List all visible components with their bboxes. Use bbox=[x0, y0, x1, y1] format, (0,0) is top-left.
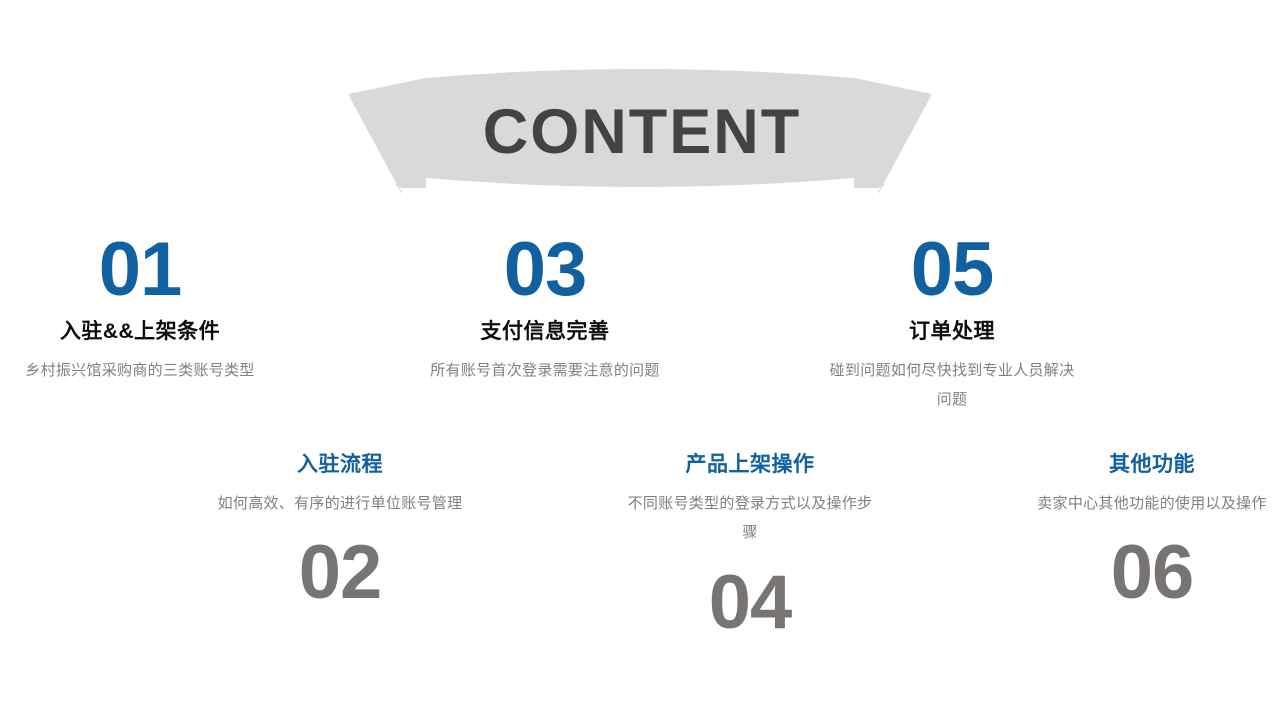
content-item-05[interactable]: 05 订单处理 碰到问题如何尽快找到专业人员解决问题 bbox=[812, 235, 1092, 415]
item-description-03: 所有账号首次登录需要注意的问题 bbox=[405, 356, 685, 385]
item-description-05: 碰到问题如何尽快找到专业人员解决问题 bbox=[812, 356, 1092, 415]
item-description-06: 卖家中心其他功能的使用以及操作 bbox=[1012, 489, 1280, 518]
item-number-05: 05 bbox=[812, 235, 1092, 305]
content-item-06[interactable]: 其他功能 卖家中心其他功能的使用以及操作 06 bbox=[1012, 452, 1280, 608]
item-title-01: 入驻&&上架条件 bbox=[0, 319, 280, 344]
item-title-03: 支付信息完善 bbox=[405, 319, 685, 344]
item-number-04: 04 bbox=[610, 568, 890, 638]
content-item-03[interactable]: 03 支付信息完善 所有账号首次登录需要注意的问题 bbox=[405, 235, 685, 385]
item-number-06: 06 bbox=[1012, 538, 1280, 608]
item-title-04: 产品上架操作 bbox=[610, 452, 890, 477]
item-description-02: 如何高效、有序的进行单位账号管理 bbox=[200, 489, 480, 518]
item-title-05: 订单处理 bbox=[812, 319, 1092, 344]
item-number-01: 01 bbox=[0, 235, 280, 305]
item-number-02: 02 bbox=[200, 538, 480, 608]
content-item-02[interactable]: 入驻流程 如何高效、有序的进行单位账号管理 02 bbox=[200, 452, 480, 608]
content-item-01[interactable]: 01 入驻&&上架条件 乡村振兴馆采购商的三类账号类型 bbox=[0, 235, 280, 385]
item-description-01: 乡村振兴馆采购商的三类账号类型 bbox=[0, 356, 280, 385]
item-title-06: 其他功能 bbox=[1012, 452, 1280, 477]
page-title: CONTENT bbox=[340, 66, 940, 198]
item-number-03: 03 bbox=[405, 235, 685, 305]
slide-canvas: CONTENT 01 入驻&&上架条件 乡村振兴馆采购商的三类账号类型 入驻流程… bbox=[0, 0, 1280, 720]
item-description-04: 不同账号类型的登录方式以及操作步骤 bbox=[610, 489, 890, 548]
content-banner: CONTENT bbox=[340, 66, 940, 198]
content-item-04[interactable]: 产品上架操作 不同账号类型的登录方式以及操作步骤 04 bbox=[610, 452, 890, 638]
item-title-02: 入驻流程 bbox=[200, 452, 480, 477]
